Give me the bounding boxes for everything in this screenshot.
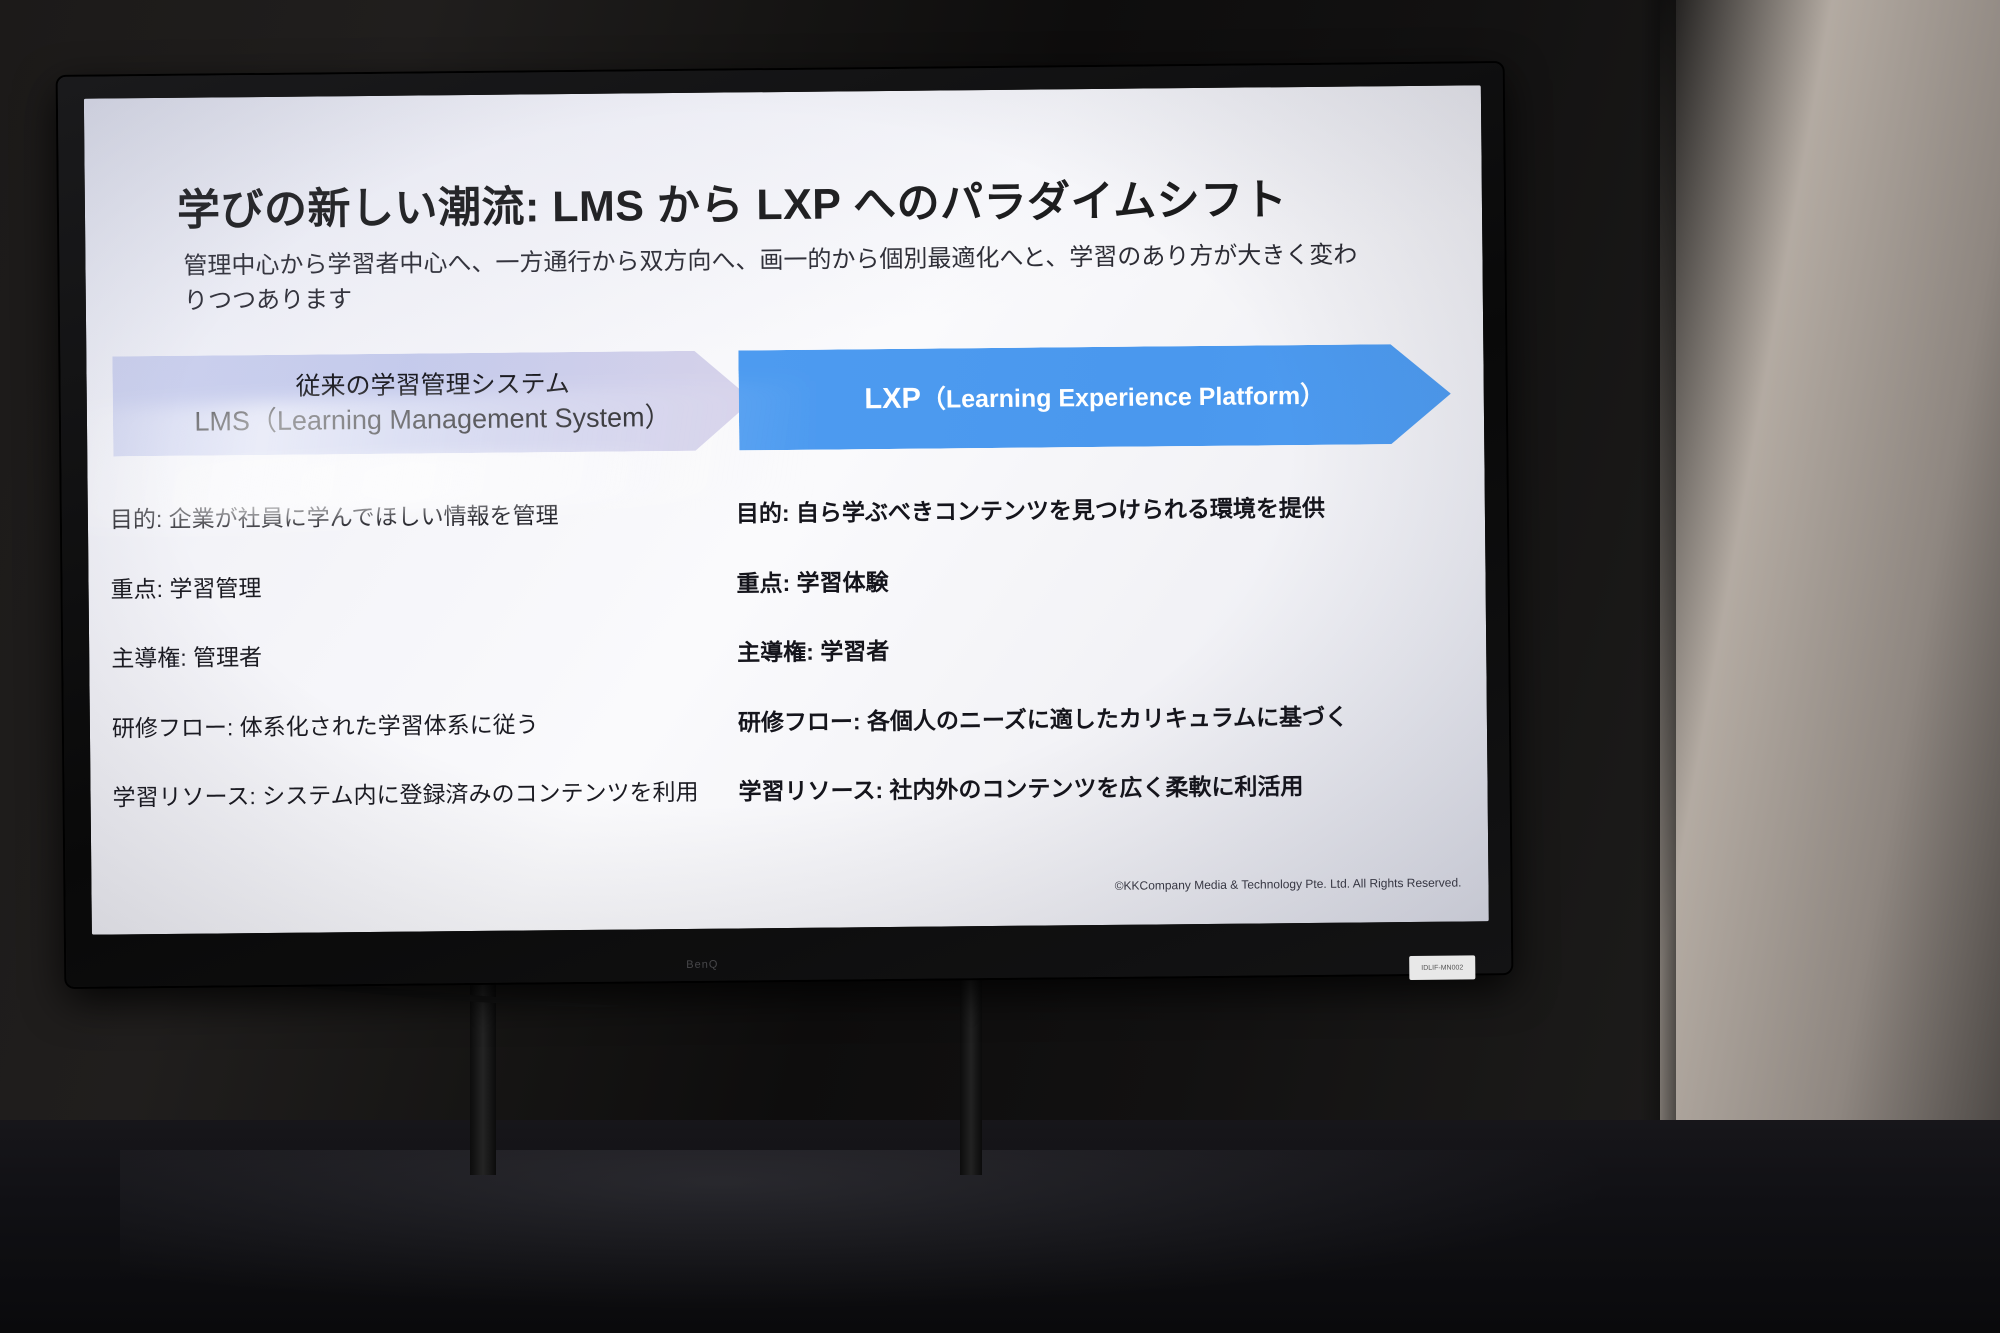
- display-monitor: BenQ IDLIF-MN002 学びの新しい潮流: LMS から LXP への…: [58, 63, 1512, 987]
- lxp-row-initiative: 主導権: 学習者: [737, 633, 1477, 668]
- monitor-stand-left: [470, 975, 496, 1175]
- lxp-abbrev: LXP: [864, 382, 921, 415]
- lms-banner-line-1: 従来の学習管理システム: [194, 368, 672, 404]
- slide-content: 学びの新しい潮流: LMS から LXP へのパラダイムシフト 管理中心から学習…: [84, 85, 1489, 934]
- lxp-banner-text: LXP（Learning Experience Platform）: [864, 377, 1325, 418]
- lxp-row-focus: 重点: 学習体験: [736, 563, 1476, 598]
- presentation-slide: 学びの新しい潮流: LMS から LXP へのパラダイムシフト 管理中心から学習…: [84, 85, 1489, 934]
- lms-detail-column: 目的: 企業が社員に学んでほしい情報を管理 重点: 学習管理 主導権: 管理者 …: [110, 501, 723, 855]
- copyright-notice: ©KKCompany Media & Technology Pte. Ltd. …: [991, 876, 1461, 895]
- photo-scene: BenQ IDLIF-MN002 学びの新しい潮流: LMS から LXP への…: [0, 0, 2000, 1333]
- monitor-stand-right: [960, 975, 982, 1175]
- lms-banner-line-2: LMS（Learning Management System）: [194, 400, 672, 439]
- lms-banner-text: 従来の学習管理システム LMS（Learning Management Syst…: [194, 368, 672, 438]
- monitor-model-badge: IDLIF-MN002: [1409, 955, 1475, 980]
- lxp-detail-column: 目的: 自ら学ぶべきコンテンツを見つけられる環境を提供 重点: 学習体験 主導権…: [736, 493, 1479, 848]
- lxp-row-flow: 研修フロー: 各個人のニーズに適したカリキュラムに基づく: [738, 702, 1478, 737]
- slide-subtitle: 管理中心から学習者中心へ、一方通行から双方向へ、画一的から個別最適化へと、学習の…: [183, 238, 1384, 319]
- floor-reflection: [120, 1150, 1620, 1310]
- lms-row-purpose: 目的: 企業が社員に学んでほしい情報を管理: [110, 501, 720, 534]
- lxp-banner-line: LXP（Learning Experience Platform）: [864, 377, 1325, 418]
- lms-row-flow: 研修フロー: 体系化された学習体系に従う: [112, 709, 722, 742]
- lxp-row-resources: 学習リソース: 社内外のコンテンツを広く柔軟に利活用: [738, 772, 1478, 807]
- slide-title: 学びの新しい潮流: LMS から LXP へのパラダイムシフト: [177, 165, 1288, 238]
- monitor-screen: 学びの新しい潮流: LMS から LXP へのパラダイムシフト 管理中心から学習…: [84, 85, 1489, 934]
- lxp-chevron-banner: LXP（Learning Experience Platform）: [738, 344, 1451, 451]
- lms-row-focus: 重点: 学習管理: [110, 570, 720, 603]
- lxp-expansion: （Learning Experience Platform）: [921, 382, 1326, 414]
- lxp-row-purpose: 目的: 自ら学ぶべきコンテンツを見つけられる環境を提供: [736, 493, 1476, 528]
- lms-row-initiative: 主導権: 管理者: [111, 640, 721, 673]
- lms-chevron-banner: 従来の学習管理システム LMS（Learning Management Syst…: [112, 350, 753, 456]
- monitor-brand-label: BenQ: [686, 959, 718, 971]
- lms-row-resources: 学習リソース: システム内に登録済みのコンテンツを利用: [112, 779, 722, 812]
